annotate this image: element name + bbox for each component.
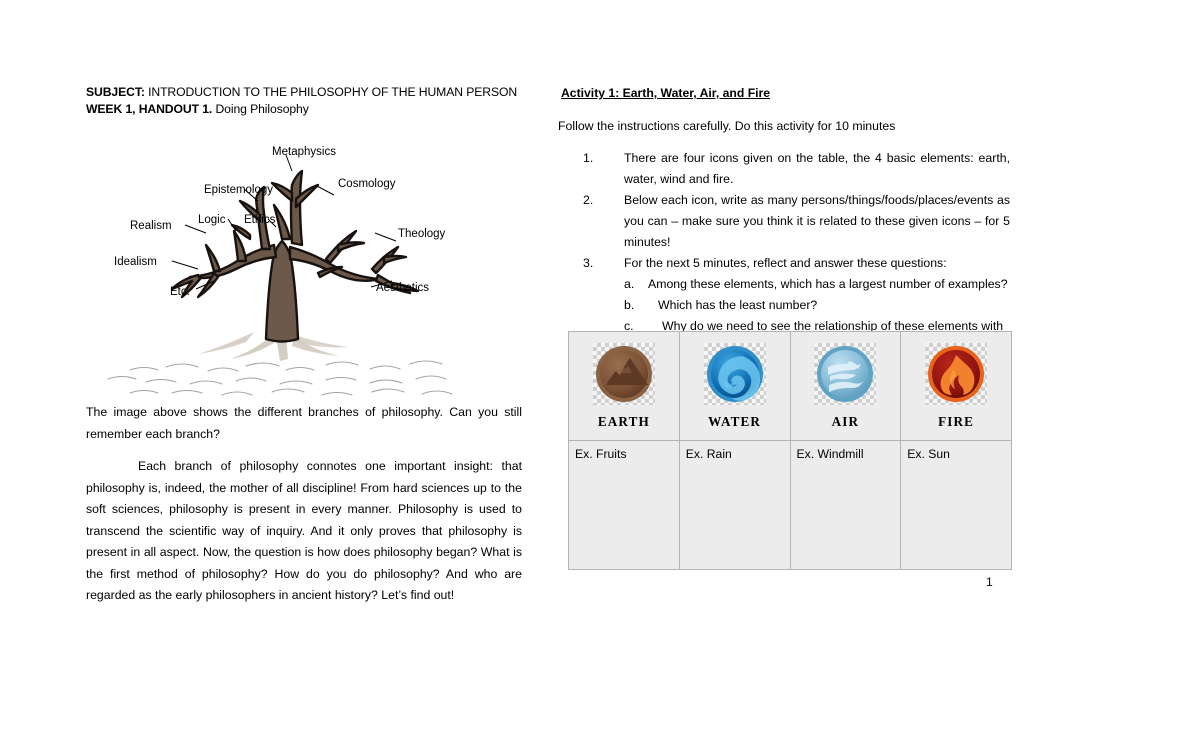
earth-element-icon bbox=[595, 345, 653, 403]
tree-label-etc: Etc. bbox=[170, 286, 190, 298]
activity-intro: Follow the instructions carefully. Do th… bbox=[558, 117, 1010, 136]
week-label: WEEK 1, HANDOUT 1. bbox=[86, 102, 212, 116]
table-cell-air-icon: AIR bbox=[790, 332, 901, 441]
fire-element-icon bbox=[927, 345, 985, 403]
substep-text: Among these elements, which has a larges… bbox=[648, 277, 1008, 291]
substep-letter: b. bbox=[624, 295, 634, 316]
element-label-air: AIR bbox=[791, 414, 901, 430]
element-label-fire: FIRE bbox=[901, 414, 1011, 430]
subject-label: SUBJECT: bbox=[86, 85, 145, 99]
activity-step: 1. There are four icons given on the tab… bbox=[558, 148, 1010, 190]
table-cell-fire-examples[interactable]: Ex. Sun bbox=[901, 441, 1012, 570]
table-row-icons: EARTH bbox=[569, 332, 1012, 441]
activity-title: Activity 1: Earth, Water, Air, and Fire bbox=[558, 86, 770, 100]
elements-table: EARTH bbox=[568, 331, 1012, 570]
element-label-water: WATER bbox=[680, 414, 790, 430]
tree-trunk-and-branches bbox=[172, 171, 418, 342]
table-cell-earth-icon: EARTH bbox=[569, 332, 680, 441]
step-number: 3. bbox=[583, 253, 593, 274]
activity-title-row: Activity 1: Earth, Water, Air, and Fire bbox=[558, 84, 1010, 102]
tree-label-aesthetics: Aesthetics bbox=[376, 282, 429, 294]
table-cell-air-examples[interactable]: Ex. Windmill bbox=[790, 441, 901, 570]
page-number: 1 bbox=[986, 575, 993, 589]
activity-steps-list: 1. There are four icons given on the tab… bbox=[558, 148, 1010, 358]
step-number: 1. bbox=[583, 148, 593, 169]
subject-header: SUBJECT: INTRODUCTION TO THE PHILOSOPHY … bbox=[86, 84, 522, 101]
table-cell-water-examples[interactable]: Ex. Rain bbox=[679, 441, 790, 570]
air-element-icon bbox=[816, 345, 874, 403]
philosophy-tree-figure: Metaphysics Epistemology Cosmology Reali… bbox=[86, 127, 522, 402]
earth-icon-transparency-bg bbox=[593, 343, 655, 405]
subject-value: INTRODUCTION TO THE PHILOSOPHY OF THE HU… bbox=[145, 85, 517, 99]
table-cell-earth-examples[interactable]: Ex. Fruits bbox=[569, 441, 680, 570]
week-value: Doing Philosophy bbox=[212, 102, 309, 116]
substep-letter: a. bbox=[624, 274, 634, 295]
water-icon-transparency-bg bbox=[704, 343, 766, 405]
tree-label-idealism: Idealism bbox=[114, 256, 157, 268]
tree-label-theology: Theology bbox=[398, 228, 446, 240]
step-text: Below each icon, write as many persons/t… bbox=[624, 193, 1010, 249]
ground-lines bbox=[108, 361, 452, 395]
water-element-icon bbox=[706, 345, 764, 403]
tree-label-ethics: Ethics bbox=[244, 214, 276, 226]
table-cell-fire-icon: FIRE bbox=[901, 332, 1012, 441]
week-header: WEEK 1, HANDOUT 1. Doing Philosophy bbox=[86, 101, 522, 118]
tree-label-realism: Realism bbox=[130, 220, 172, 232]
fire-icon-transparency-bg bbox=[925, 343, 987, 405]
activity-substep: a. Among these elements, which has a lar… bbox=[624, 274, 1010, 295]
air-icon-transparency-bg bbox=[814, 343, 876, 405]
table-row-examples: Ex. Fruits Ex. Rain Ex. Windmill Ex. Sun bbox=[569, 441, 1012, 570]
activity-step: 2. Below each icon, write as many person… bbox=[558, 190, 1010, 253]
tree-label-logic: Logic bbox=[198, 214, 226, 226]
tree-label-metaphysics: Metaphysics bbox=[272, 146, 336, 158]
step-text: There are four icons given on the table,… bbox=[624, 151, 1010, 186]
step-text: For the next 5 minutes, reflect and answ… bbox=[624, 256, 947, 270]
substep-text: Which has the least number? bbox=[658, 298, 817, 312]
tree-label-epistemology: Epistemology bbox=[204, 184, 273, 196]
tree-label-cosmology: Cosmology bbox=[338, 178, 396, 190]
tree-illustration: Metaphysics Epistemology Cosmology Reali… bbox=[86, 127, 522, 402]
table-cell-water-icon: WATER bbox=[679, 332, 790, 441]
activity-substep: b. Which has the least number? bbox=[624, 295, 1010, 316]
document-page: SUBJECT: INTRODUCTION TO THE PHILOSOPHY … bbox=[0, 0, 1200, 729]
right-column: Activity 1: Earth, Water, Air, and Fire … bbox=[558, 84, 1010, 358]
step-number: 2. bbox=[583, 190, 593, 211]
element-label-earth: EARTH bbox=[569, 414, 679, 430]
left-column: SUBJECT: INTRODUCTION TO THE PHILOSOPHY … bbox=[86, 84, 522, 607]
paragraph-image-above: The image above shows the different bran… bbox=[86, 402, 522, 445]
paragraph-each-branch: Each branch of philosophy connotes one i… bbox=[86, 456, 522, 607]
